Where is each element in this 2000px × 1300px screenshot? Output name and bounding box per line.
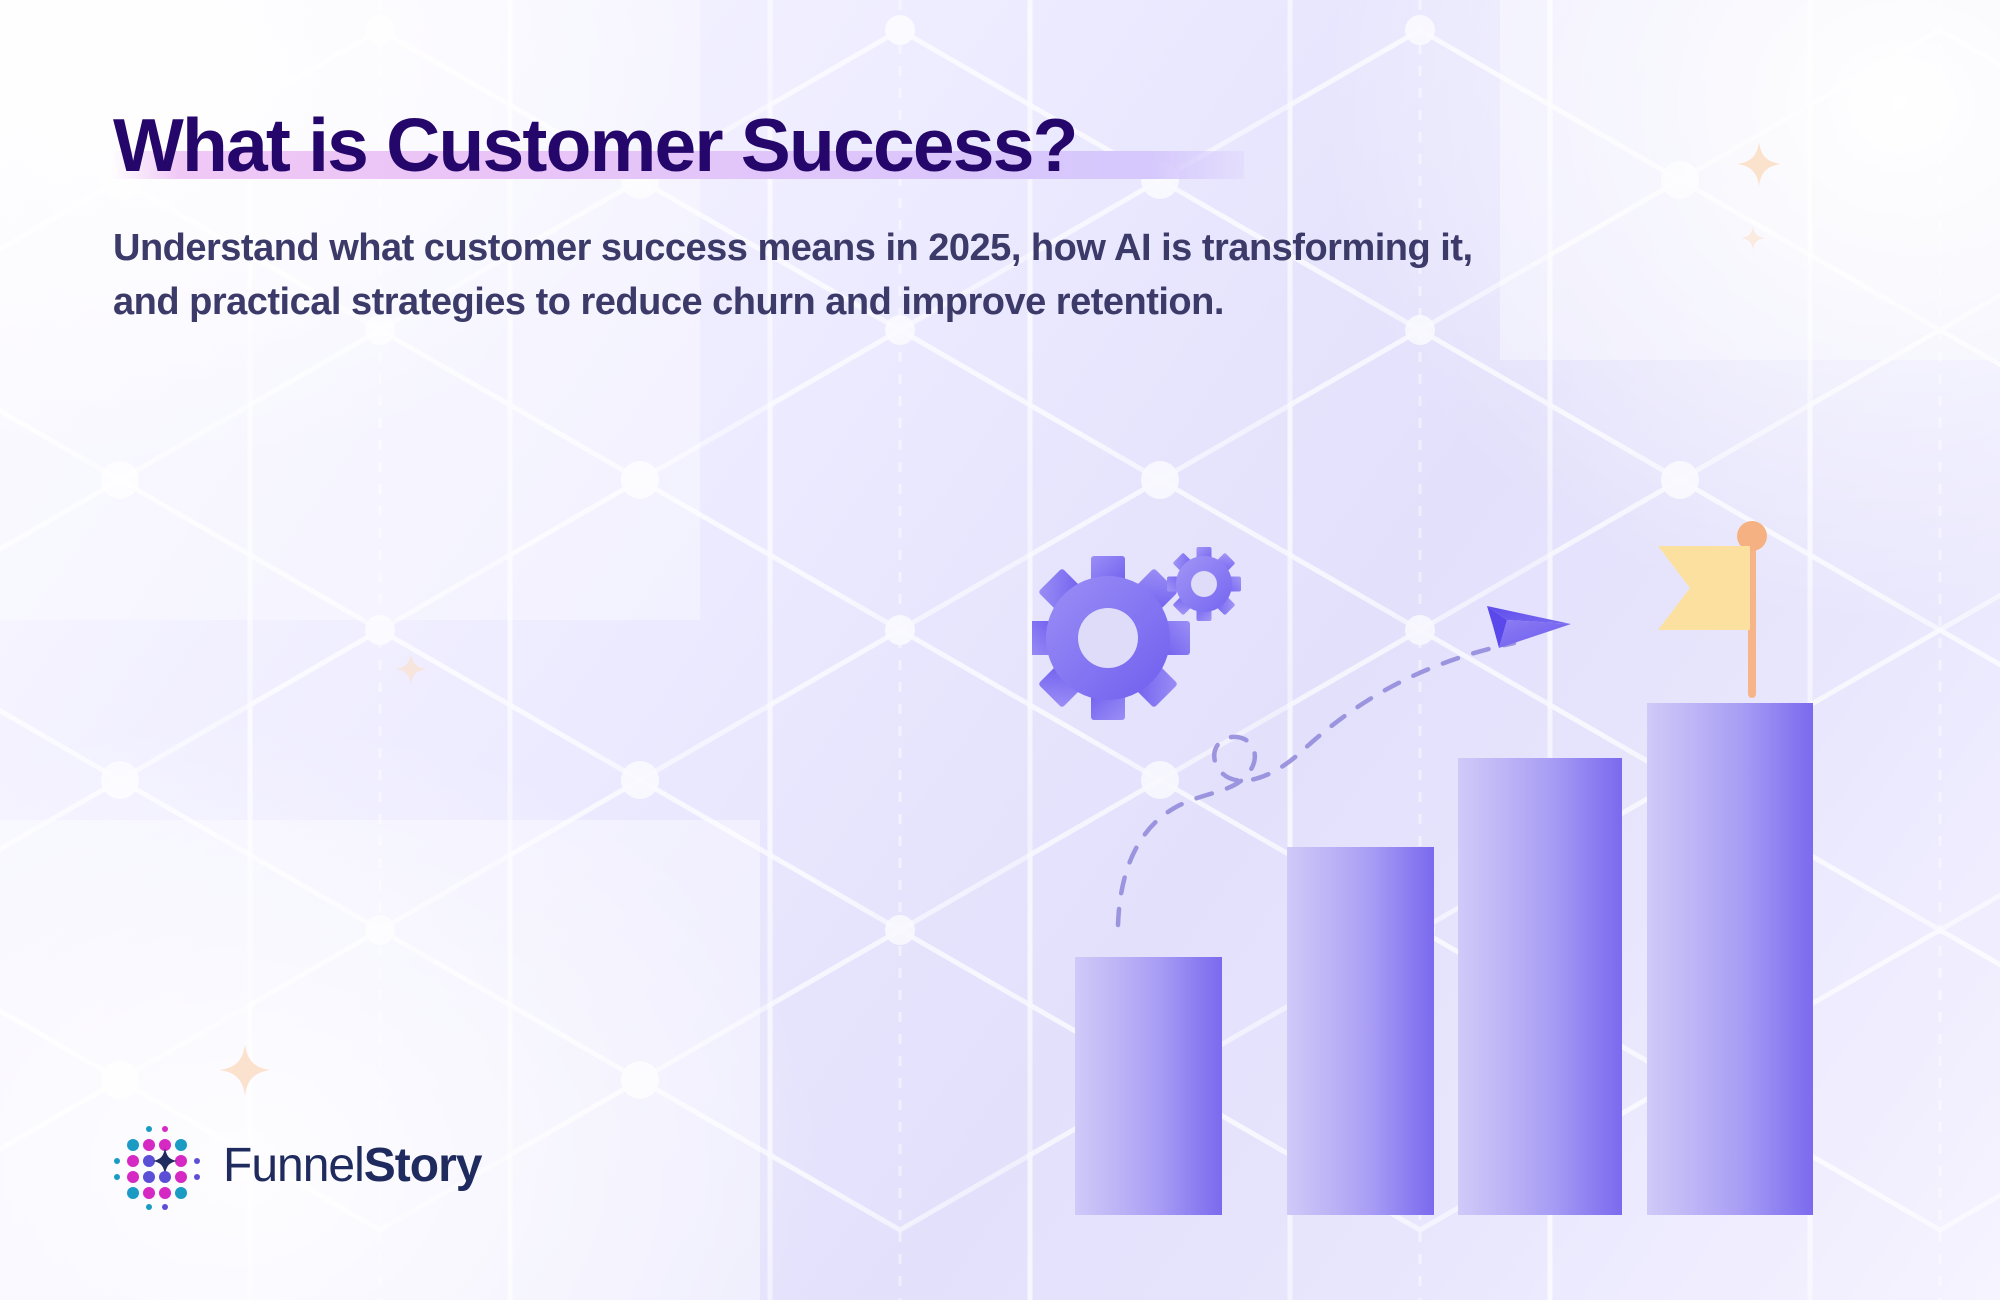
brand-name-bold: Story	[364, 1139, 482, 1192]
hero-banner: What is Customer Success? Understand wha…	[0, 0, 2000, 1300]
bar-4	[1647, 703, 1813, 1215]
brand-wordmark: FunnelStory	[223, 1142, 481, 1190]
bar-chart	[1075, 690, 1875, 1215]
hero-text-block: What is Customer Success? Understand wha…	[113, 108, 1533, 330]
sparkle-icon	[394, 652, 428, 686]
bar-2	[1287, 847, 1434, 1215]
page-subtitle: Understand what customer success means i…	[113, 221, 1513, 330]
bar-1	[1075, 957, 1222, 1215]
bar-3	[1458, 758, 1622, 1215]
page-title: What is Customer Success?	[113, 108, 1077, 183]
funnelstory-dot-matrix-logo-icon	[113, 1122, 201, 1210]
brand-name-light: Funnel	[223, 1139, 364, 1192]
sparkle-icon	[1735, 140, 1783, 188]
title-wrapper: What is Customer Success?	[113, 108, 1077, 183]
paper-plane-icon	[1483, 594, 1573, 659]
sparkle-icon	[217, 1042, 273, 1098]
brand-logo[interactable]: FunnelStory	[113, 1122, 481, 1210]
goal-flag-icon	[1650, 518, 1820, 698]
sparkle-icon	[1740, 225, 1766, 251]
